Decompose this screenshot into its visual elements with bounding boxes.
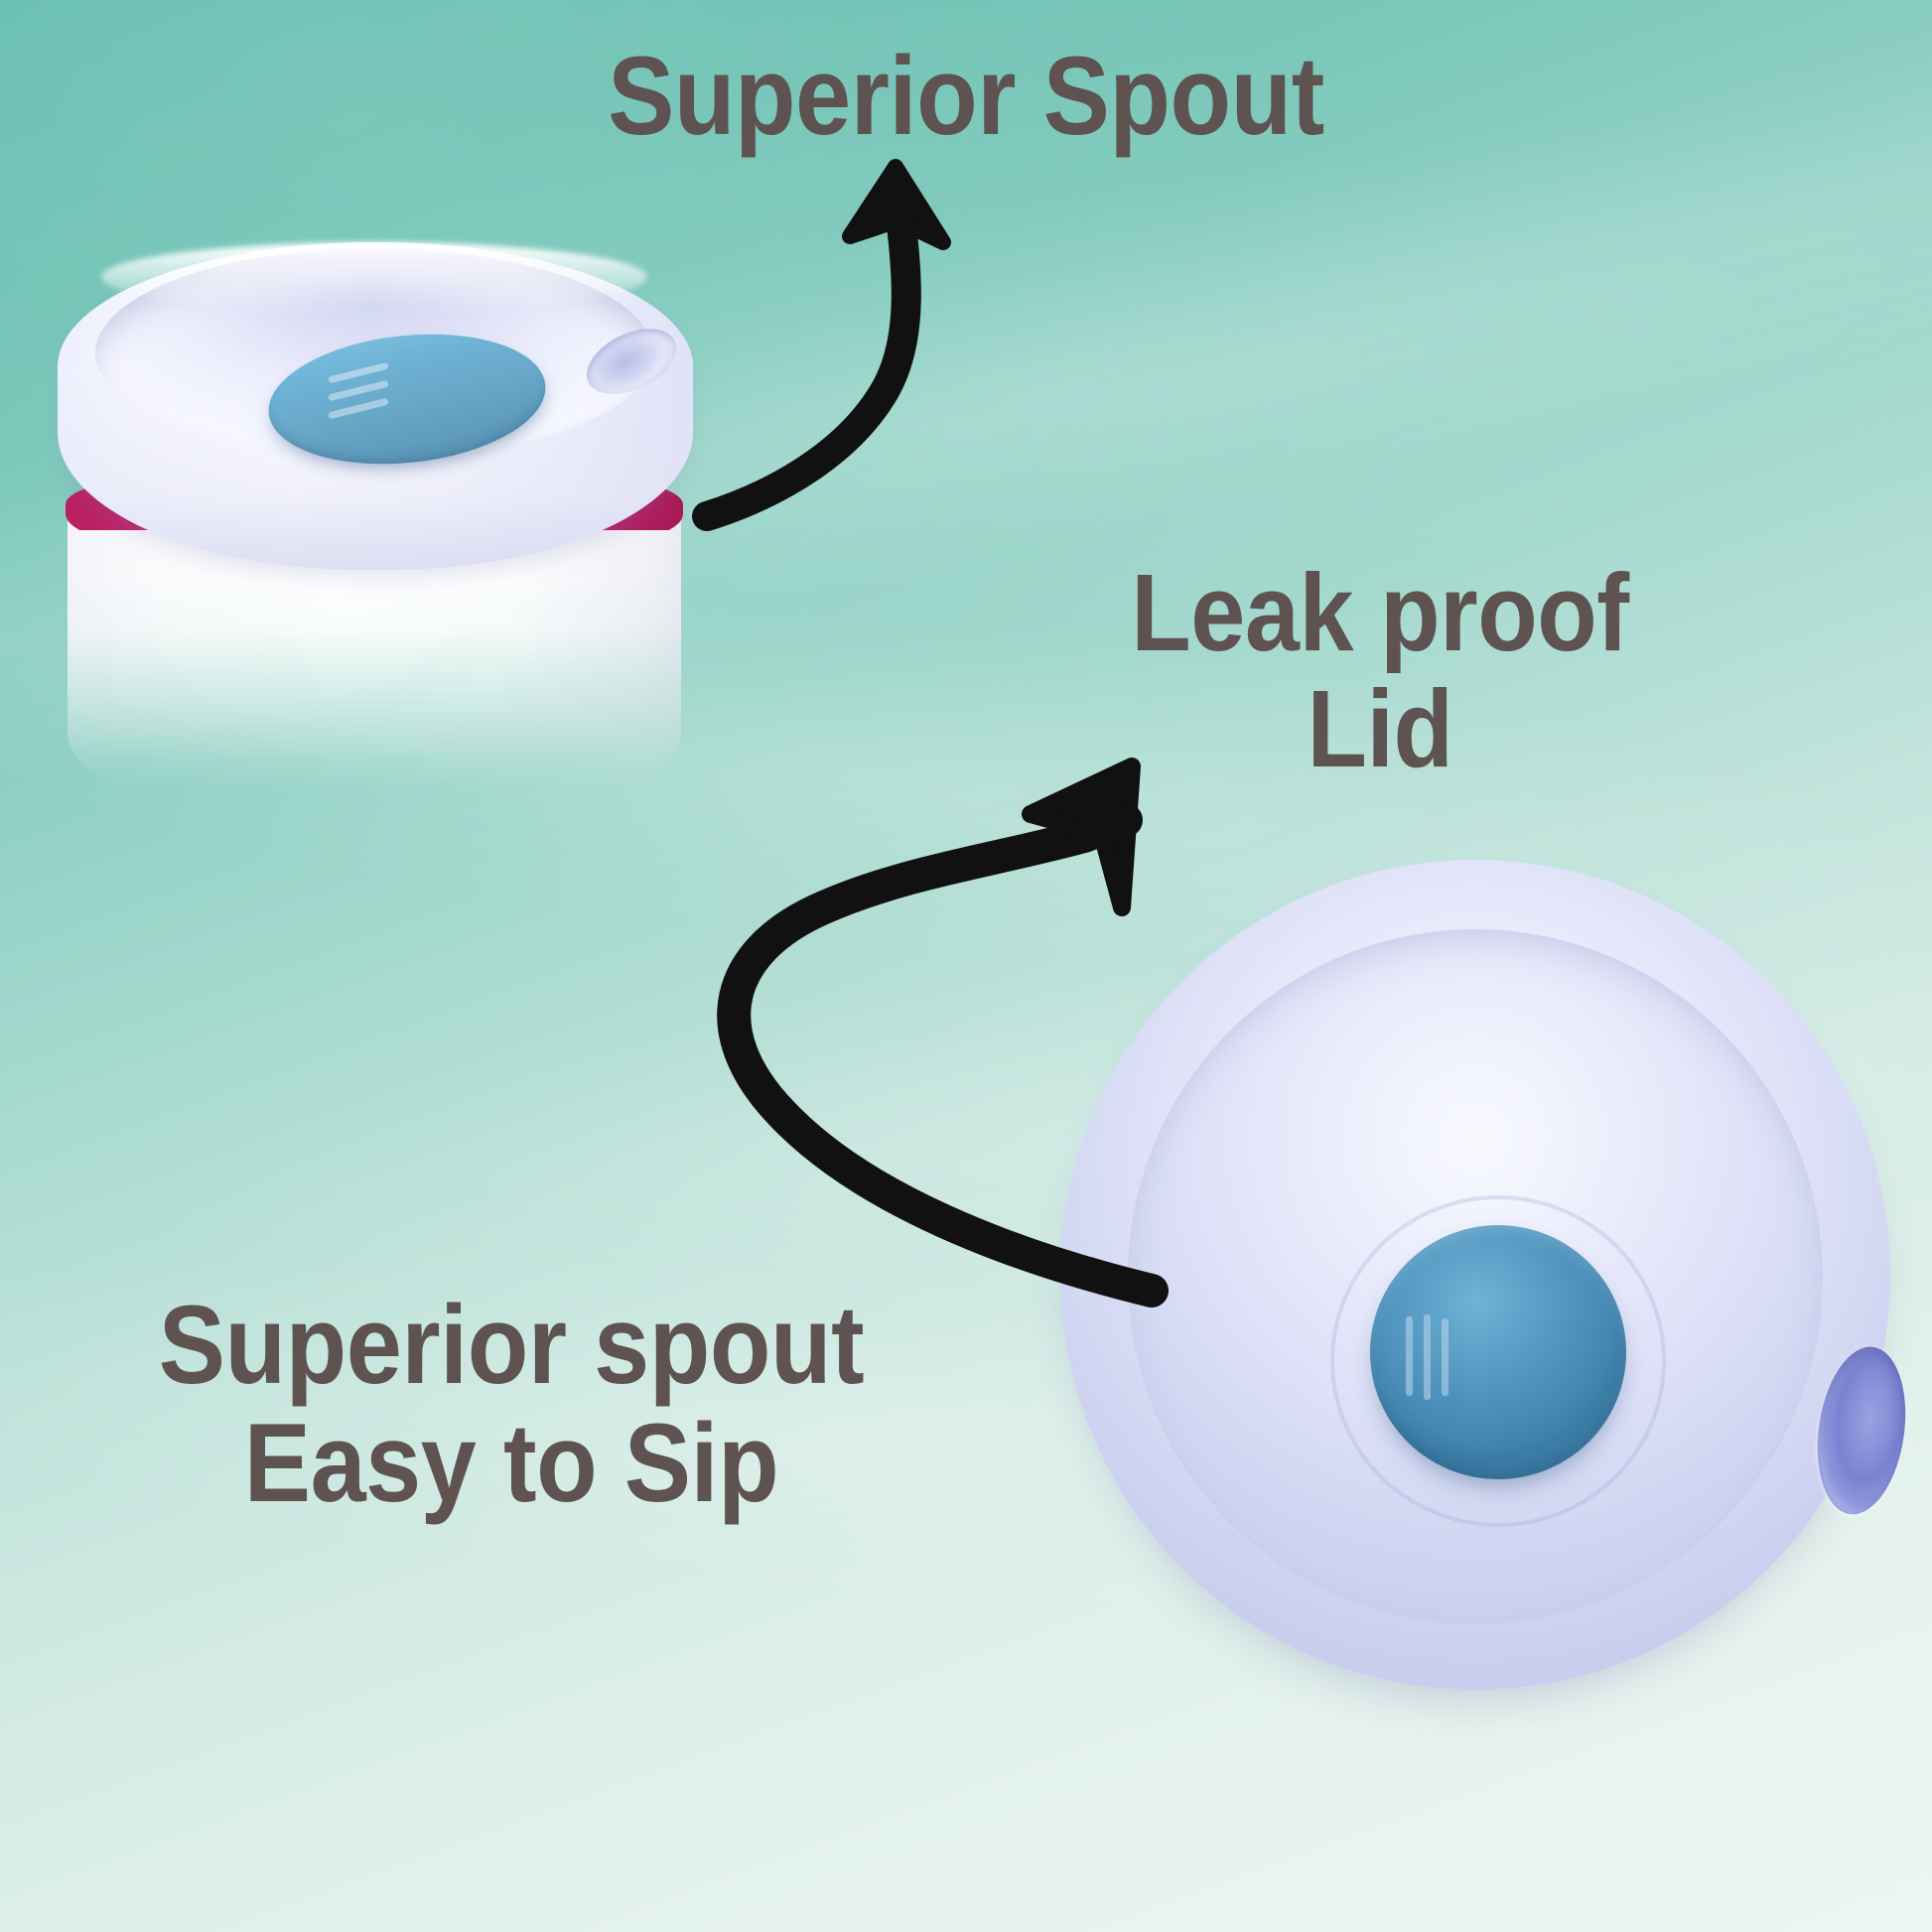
valve-etch-line [1424, 1314, 1431, 1400]
caption-leak-proof-lid: Leak proof Lid [978, 556, 1782, 787]
product-photo-cup-with-lid [48, 214, 733, 790]
caption-superior-spout-easy-to-sip: Superior spout Easy to Sip [114, 1287, 909, 1522]
caption-superior-spout: Superior Spout [96, 38, 1835, 156]
valve-etch-line [1442, 1318, 1449, 1396]
product-photo-lid-topdown [1021, 850, 1932, 1743]
lid-rim-highlight [101, 242, 647, 312]
infographic-canvas: Superior Spout Leak proof Lid Superior s… [0, 0, 1932, 1932]
valve-etch-line [1406, 1316, 1413, 1396]
